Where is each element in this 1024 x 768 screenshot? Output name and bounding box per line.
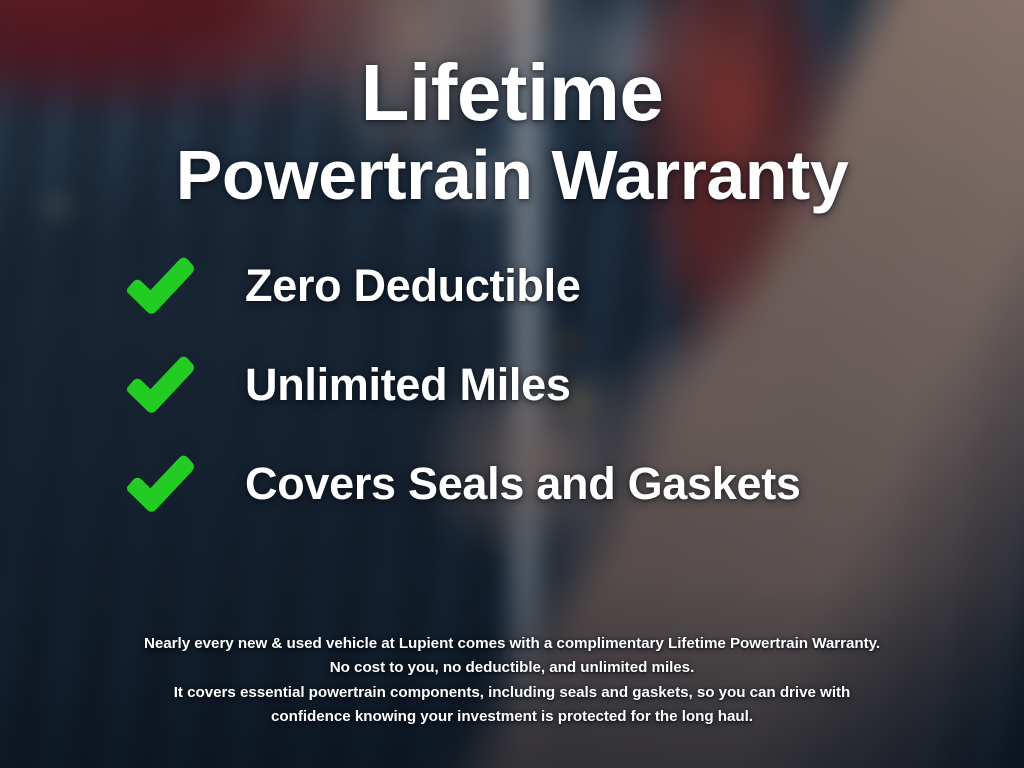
headline-line-1: Lifetime xyxy=(0,52,1024,134)
check-icon xyxy=(123,354,195,416)
page-title: Lifetime Powertrain Warranty xyxy=(0,52,1024,211)
check-icon xyxy=(123,453,195,515)
benefit-label: Zero Deductible xyxy=(245,260,581,312)
benefit-label: Covers Seals and Gaskets xyxy=(245,458,801,510)
benefits-list: Zero Deductible Unlimited Miles Covers S… xyxy=(0,255,1024,515)
disclaimer-line-1: Nearly every new & used vehicle at Lupie… xyxy=(24,632,1000,657)
benefit-label: Unlimited Miles xyxy=(245,359,571,411)
banner-content: Lifetime Powertrain Warranty Zero Deduct… xyxy=(0,0,1024,768)
list-item: Unlimited Miles xyxy=(123,354,1024,416)
check-icon xyxy=(123,255,195,317)
list-item: Zero Deductible xyxy=(123,255,1024,317)
disclaimer-line-3: It covers essential powertrain component… xyxy=(24,681,1000,706)
disclaimer-text: Nearly every new & used vehicle at Lupie… xyxy=(0,632,1024,731)
disclaimer-line-2: No cost to you, no deductible, and unlim… xyxy=(24,656,1000,681)
headline-line-2: Powertrain Warranty xyxy=(0,140,1024,211)
list-item: Covers Seals and Gaskets xyxy=(123,453,1024,515)
disclaimer-line-4: confidence knowing your investment is pr… xyxy=(24,705,1000,730)
warranty-promo-banner: Lifetime Powertrain Warranty Zero Deduct… xyxy=(0,0,1024,768)
